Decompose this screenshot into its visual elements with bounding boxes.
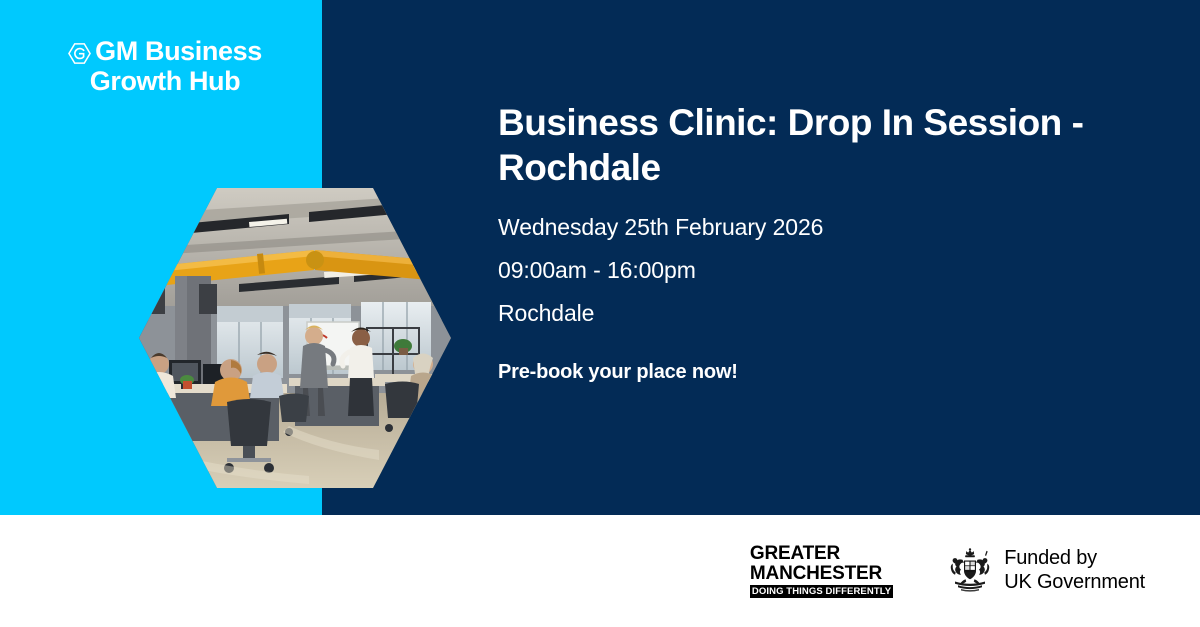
event-location: Rochdale [498, 302, 1158, 325]
footer-logo-group: GREATER MANCHESTER DOING THINGS DIFFEREN… [750, 515, 1145, 627]
event-time: 09:00am - 16:00pm [498, 259, 1158, 282]
footer-bar: GREATER MANCHESTER DOING THINGS DIFFEREN… [0, 515, 1200, 627]
brand-logo-line-1: GM Business [40, 36, 290, 66]
brand-logo-text-2: Growth Hub [40, 66, 290, 96]
greater-manchester-tagline: DOING THINGS DIFFERENTLY [750, 585, 893, 599]
event-promo-banner: GM Business Growth Hub [0, 0, 1200, 627]
greater-manchester-logo: GREATER MANCHESTER DOING THINGS DIFFEREN… [750, 544, 893, 599]
event-title: Business Clinic: Drop In Session - Rochd… [498, 100, 1158, 190]
greater-manchester-line-2: MANCHESTER [750, 564, 893, 583]
gm-hexagon-g-icon [68, 41, 91, 64]
brand-logo: GM Business Growth Hub [40, 36, 290, 96]
uk-government-text: Funded by UK Government [1004, 547, 1145, 594]
uk-government-logo: Funded by UK Government [946, 547, 1145, 595]
event-date: Wednesday 25th February 2026 [498, 216, 1158, 239]
uk-government-line-1: Funded by [1004, 547, 1145, 571]
uk-royal-coat-of-arms-icon [946, 547, 994, 595]
event-cta-text: Pre-book your place now! [498, 361, 1158, 384]
uk-government-line-2: UK Government [1004, 571, 1145, 595]
brand-logo-text-1: GM Business [95, 36, 262, 66]
hero-section: GM Business Growth Hub [0, 0, 1200, 515]
event-copy: Business Clinic: Drop In Session - Rochd… [498, 100, 1158, 384]
greater-manchester-line-1: GREATER [750, 544, 893, 563]
